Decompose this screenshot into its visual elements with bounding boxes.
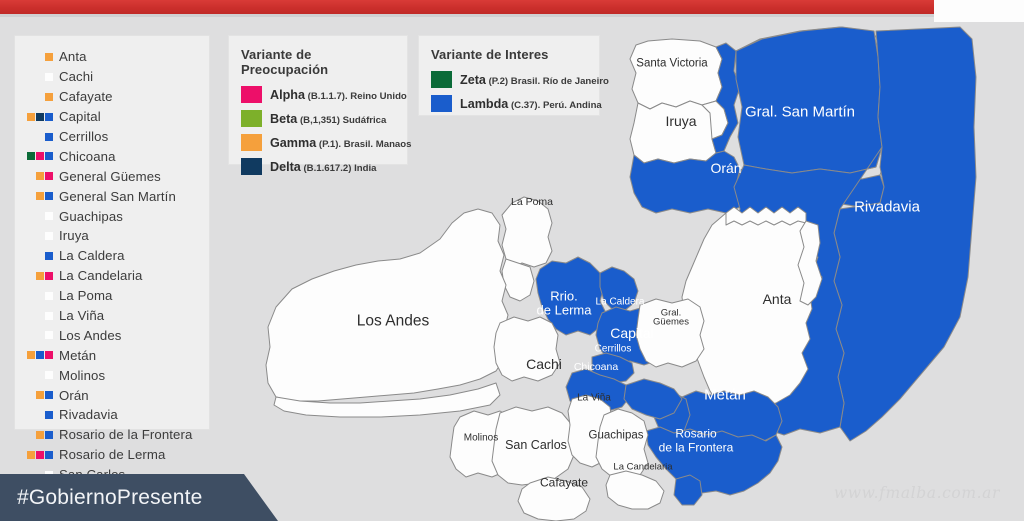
site-watermark: www.fmalba.com.ar (834, 484, 1000, 502)
department-name: Iruya (59, 228, 89, 243)
department-row[interactable]: Capital (15, 107, 209, 127)
variant-swatch-gamma (27, 351, 35, 359)
department-row[interactable]: La Poma (15, 286, 209, 306)
map-region-la-caldera[interactable] (600, 267, 638, 311)
department-row[interactable]: Cafayate (15, 87, 209, 107)
variant-swatch-alpha (241, 86, 262, 103)
variant-legend-text: Delta (B.1.617.2) India (270, 160, 377, 174)
variant-legend-row[interactable]: Zeta (P.2) Brasil. Río de Janeiro (431, 71, 587, 88)
variant-legend-row[interactable]: Gamma (P.1). Brasil. Manaos (241, 134, 395, 151)
map-region-guachipas[interactable] (596, 409, 648, 481)
variant-swatch-alpha (36, 152, 44, 160)
department-row[interactable]: Chicoana (15, 146, 209, 166)
department-row[interactable]: Metán (15, 345, 209, 365)
variant-swatch-lambda (45, 451, 53, 459)
variant-swatch-delta (241, 158, 262, 175)
department-row[interactable]: Rivadavia (15, 405, 209, 425)
variant-of-interest-rows: Zeta (P.2) Brasil. Río de JaneiroLambda … (431, 71, 587, 112)
variant-swatch-alpha (36, 451, 44, 459)
department-name: Capital (59, 109, 101, 124)
variant-swatch-lambda (431, 95, 452, 112)
map-region-rosario-south-lobe[interactable] (674, 475, 702, 505)
department-row[interactable]: La Viña (15, 306, 209, 326)
department-list: AntaCachiCafayateCapitalCerrillosChicoan… (15, 47, 209, 504)
variant-swatch-gamma (36, 272, 44, 280)
department-variant-swatches (15, 192, 59, 200)
variant-swatch-lambda (45, 133, 53, 141)
variant-swatch-gamma (36, 431, 44, 439)
variant-swatch-lambda (45, 152, 53, 160)
map-region-la-candelaria[interactable] (606, 471, 664, 509)
department-variant-swatches (15, 292, 59, 300)
variant-swatch-alpha (45, 172, 53, 180)
variant-swatch-none (45, 212, 53, 220)
department-row[interactable]: Orán (15, 385, 209, 405)
department-variant-swatches (15, 232, 59, 240)
department-row[interactable]: Cachi (15, 67, 209, 87)
department-name: Cachi (59, 69, 93, 84)
top-red-stripe (0, 0, 934, 14)
variant-of-interest-title: Variante de Interes (431, 47, 587, 62)
department-row[interactable]: General San Martín (15, 186, 209, 206)
map-region-santa-victoria[interactable] (630, 39, 722, 109)
variant-swatch-none (45, 73, 53, 81)
variant-swatch-beta (241, 110, 262, 127)
map-region-cafayate[interactable] (518, 477, 590, 521)
variant-swatch-none (45, 292, 53, 300)
variant-swatch-lambda (45, 252, 53, 260)
variant-swatch-lambda (45, 391, 53, 399)
variant-swatch-delta (36, 113, 44, 121)
variant-legend-row[interactable]: Beta (B,1,351) Sudáfrica (241, 110, 395, 127)
variant-detail: (B.1.1.7). Reino Unido (305, 91, 407, 102)
map-region-la-poma[interactable] (502, 197, 552, 267)
department-row[interactable]: Guachipas (15, 206, 209, 226)
department-variant-swatches (15, 53, 59, 61)
department-name: Cerrillos (59, 129, 108, 144)
department-name: General Güemes (59, 169, 161, 184)
department-name: La Candelaria (59, 268, 142, 283)
department-name: Cafayate (59, 89, 113, 104)
department-variant-swatches (15, 172, 59, 180)
variant-name: Delta (270, 160, 301, 174)
map-region-los-andes[interactable] (266, 209, 510, 401)
department-variant-swatches (15, 451, 59, 459)
department-row[interactable]: Iruya (15, 226, 209, 246)
department-row[interactable]: La Caldera (15, 246, 209, 266)
variant-legend-text: Gamma (P.1). Brasil. Manaos (270, 136, 411, 150)
map-region-gral-san-martin-body[interactable] (736, 27, 882, 173)
department-name: La Poma (59, 288, 112, 303)
variant-swatch-none (45, 371, 53, 379)
department-variant-swatches (15, 411, 59, 419)
map-region-san-carlos[interactable] (492, 407, 574, 485)
department-name: Molinos (59, 368, 105, 383)
variant-of-concern-card: Variante de Preocupación Alpha (B.1.1.7)… (228, 35, 408, 165)
department-name: Rosario de Lerma (59, 447, 165, 462)
variant-legend-row[interactable]: Delta (B.1.617.2) India (241, 158, 395, 175)
department-variant-swatches (15, 391, 59, 399)
variant-name: Zeta (460, 73, 486, 87)
department-variant-swatches (15, 93, 59, 101)
department-variant-swatches (15, 312, 59, 320)
department-legend-panel: AntaCachiCafayateCapitalCerrillosChicoan… (14, 35, 210, 430)
department-row[interactable]: General Güemes (15, 166, 209, 186)
variant-of-concern-rows: Alpha (B.1.1.7). Reino UnidoBeta (B,1,35… (241, 86, 395, 175)
variant-swatch-gamma (27, 451, 35, 459)
variant-detail: (B,1,351) Sudáfrica (297, 115, 386, 126)
department-name: Metán (59, 348, 96, 363)
variant-swatch-gamma (45, 53, 53, 61)
variant-detail: (P.2) Brasil. Río de Janeiro (486, 76, 609, 87)
department-name: Chicoana (59, 149, 116, 164)
variant-legend-text: Alpha (B.1.1.7). Reino Unido (270, 88, 407, 102)
department-variant-swatches (15, 252, 59, 260)
variant-swatch-none (45, 331, 53, 339)
variant-of-concern-title: Variante de Preocupación (241, 47, 395, 77)
variant-swatch-zeta (431, 71, 452, 88)
variant-swatch-gamma (27, 113, 35, 121)
variant-swatch-gamma (36, 172, 44, 180)
variant-detail: (B.1.617.2) India (301, 163, 377, 174)
variant-swatch-lambda (45, 192, 53, 200)
banner-hashtag: #GobiernoPresente (0, 486, 203, 510)
department-name: Rivadavia (59, 407, 118, 422)
department-name: General San Martín (59, 189, 176, 204)
department-row[interactable]: Anta (15, 47, 209, 67)
department-variant-swatches (15, 431, 59, 439)
variant-swatch-lambda (45, 113, 53, 121)
variant-swatch-none (45, 312, 53, 320)
department-name: Guachipas (59, 209, 123, 224)
variant-swatch-gamma (241, 134, 262, 151)
variant-name: Lambda (460, 97, 508, 111)
variant-name: Gamma (270, 136, 316, 150)
department-name: Rosario de la Frontera (59, 427, 192, 442)
department-row[interactable]: Rosario de Lerma (15, 445, 209, 465)
variant-swatch-lambda (45, 431, 53, 439)
variant-swatch-lambda (45, 411, 53, 419)
department-variant-swatches (15, 371, 59, 379)
variant-swatch-gamma (45, 93, 53, 101)
department-variant-swatches (15, 133, 59, 141)
department-name: Anta (59, 49, 87, 64)
department-name: Los Andes (59, 328, 122, 343)
department-row[interactable]: La Candelaria (15, 266, 209, 286)
department-variant-swatches (15, 73, 59, 81)
department-row[interactable]: Los Andes (15, 325, 209, 345)
variant-swatch-gamma (36, 192, 44, 200)
variant-legend-text: Beta (B,1,351) Sudáfrica (270, 112, 386, 126)
map-region-gral-guemes[interactable] (636, 299, 704, 367)
variant-detail: (P.1). Brasil. Manaos (316, 139, 411, 150)
department-variant-swatches (15, 351, 59, 359)
department-variant-swatches (15, 331, 59, 339)
variant-detail: (C.37). Perú. Andina (508, 100, 601, 111)
variant-swatch-alpha (45, 272, 53, 280)
department-variant-swatches (15, 272, 59, 280)
variant-swatch-alpha (45, 351, 53, 359)
department-variant-swatches (15, 212, 59, 220)
government-banner: #GobiernoPresente (0, 474, 278, 521)
department-variant-swatches (15, 152, 59, 160)
department-variant-swatches (15, 113, 59, 121)
variant-swatch-gamma (36, 391, 44, 399)
map-region-cachi[interactable] (494, 317, 560, 381)
department-name: Orán (59, 388, 89, 403)
variant-of-interest-card: Variante de Interes Zeta (P.2) Brasil. R… (418, 35, 600, 116)
map-region-iruya[interactable] (630, 101, 716, 163)
department-name: La Viña (59, 308, 104, 323)
variant-name: Alpha (270, 88, 305, 102)
department-row[interactable]: Rosario de la Frontera (15, 425, 209, 445)
department-row[interactable]: Molinos (15, 365, 209, 385)
variant-swatch-zeta (27, 152, 35, 160)
variant-swatch-none (45, 232, 53, 240)
variant-name: Beta (270, 112, 297, 126)
variant-legend-text: Zeta (P.2) Brasil. Río de Janeiro (460, 73, 609, 87)
variant-legend-row[interactable]: Lambda (C.37). Perú. Andina (431, 95, 587, 112)
variant-legend-text: Lambda (C.37). Perú. Andina (460, 97, 602, 111)
department-name: La Caldera (59, 248, 125, 263)
variant-swatch-lambda (36, 351, 44, 359)
variant-legend-row[interactable]: Alpha (B.1.1.7). Reino Unido (241, 86, 395, 103)
department-row[interactable]: Cerrillos (15, 127, 209, 147)
